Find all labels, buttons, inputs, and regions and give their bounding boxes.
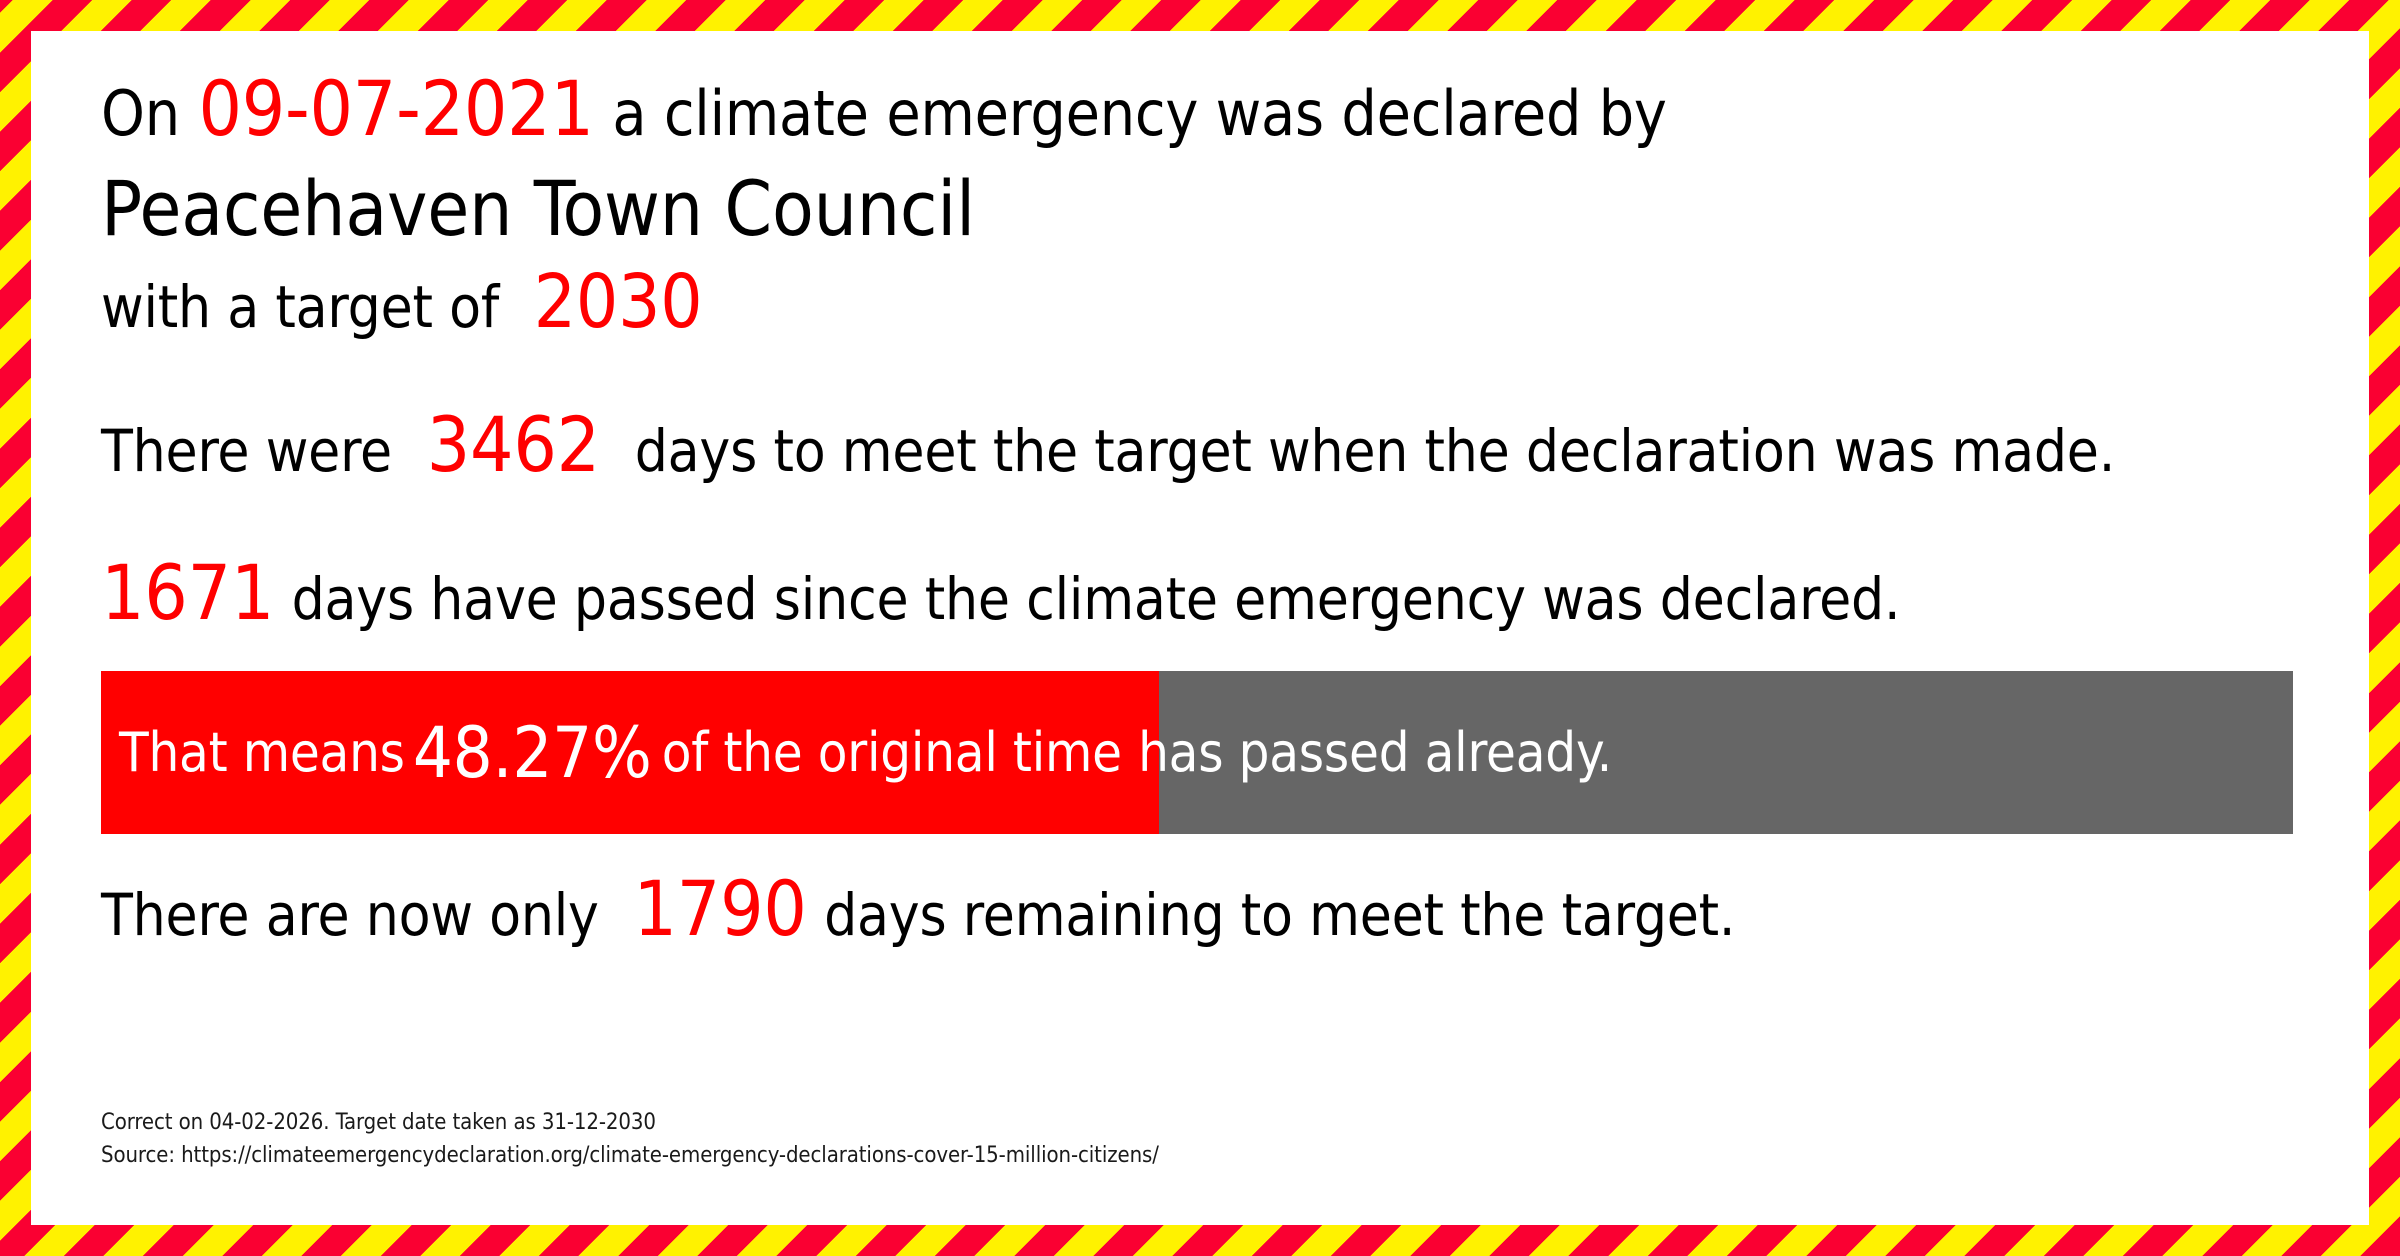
progress-bar: That means48.27%of the original timehas … [101,671,2293,834]
stat-days-remaining: There are now only1790days remaining to … [101,864,2331,960]
council-name: Peacehaven Town Council [101,158,2331,260]
days-passed-value: 1671 [101,548,274,637]
progress-percent: 48.27% [405,712,662,794]
progress-prefix: That means [119,721,405,784]
days-to-target-value: 3462 [427,400,600,489]
footer: Correct on 04-02-2026. Target date taken… [101,1106,1159,1172]
headline-prefix: On [101,77,180,150]
progress-suffix: has passed already. [1138,721,1612,784]
target-line: with a target of2030 [101,256,2331,353]
headline: On09-07-2021a climate emergency was decl… [101,59,2331,164]
target-prefix: with a target of [101,273,499,341]
days-passed-suffix: days have passed since the climate emerg… [292,565,1901,633]
days-remaining-value: 1790 [634,864,807,953]
progress-bar-label: That means48.27%of the original timehas … [119,671,1612,834]
days-to-target-suffix: days to meet the target when the declara… [635,417,2115,485]
target-year: 2030 [534,259,703,345]
content-area: On09-07-2021a climate emergency was decl… [101,59,2331,960]
footer-correct-on: Correct on 04-02-2026. Target date taken… [101,1106,1159,1139]
days-to-target-prefix: There were [101,417,392,485]
footer-source: Source: https://climateemergencydeclarat… [101,1139,1159,1172]
progress-mid: of the original time [662,721,1122,784]
headline-suffix: a climate emergency was declared by [612,77,1666,150]
days-remaining-prefix: There are now only [101,881,599,949]
stat-days-passed: 1671days have passed since the climate e… [101,553,2331,639]
declaration-date: 09-07-2021 [198,64,593,153]
poster: On09-07-2021a climate emergency was decl… [0,0,2400,1256]
days-remaining-suffix: days remaining to meet the target. [824,881,1735,949]
stat-days-to-target: There were3462days to meet the target wh… [101,405,2331,491]
white-card: On09-07-2021a climate emergency was decl… [31,31,2369,1225]
